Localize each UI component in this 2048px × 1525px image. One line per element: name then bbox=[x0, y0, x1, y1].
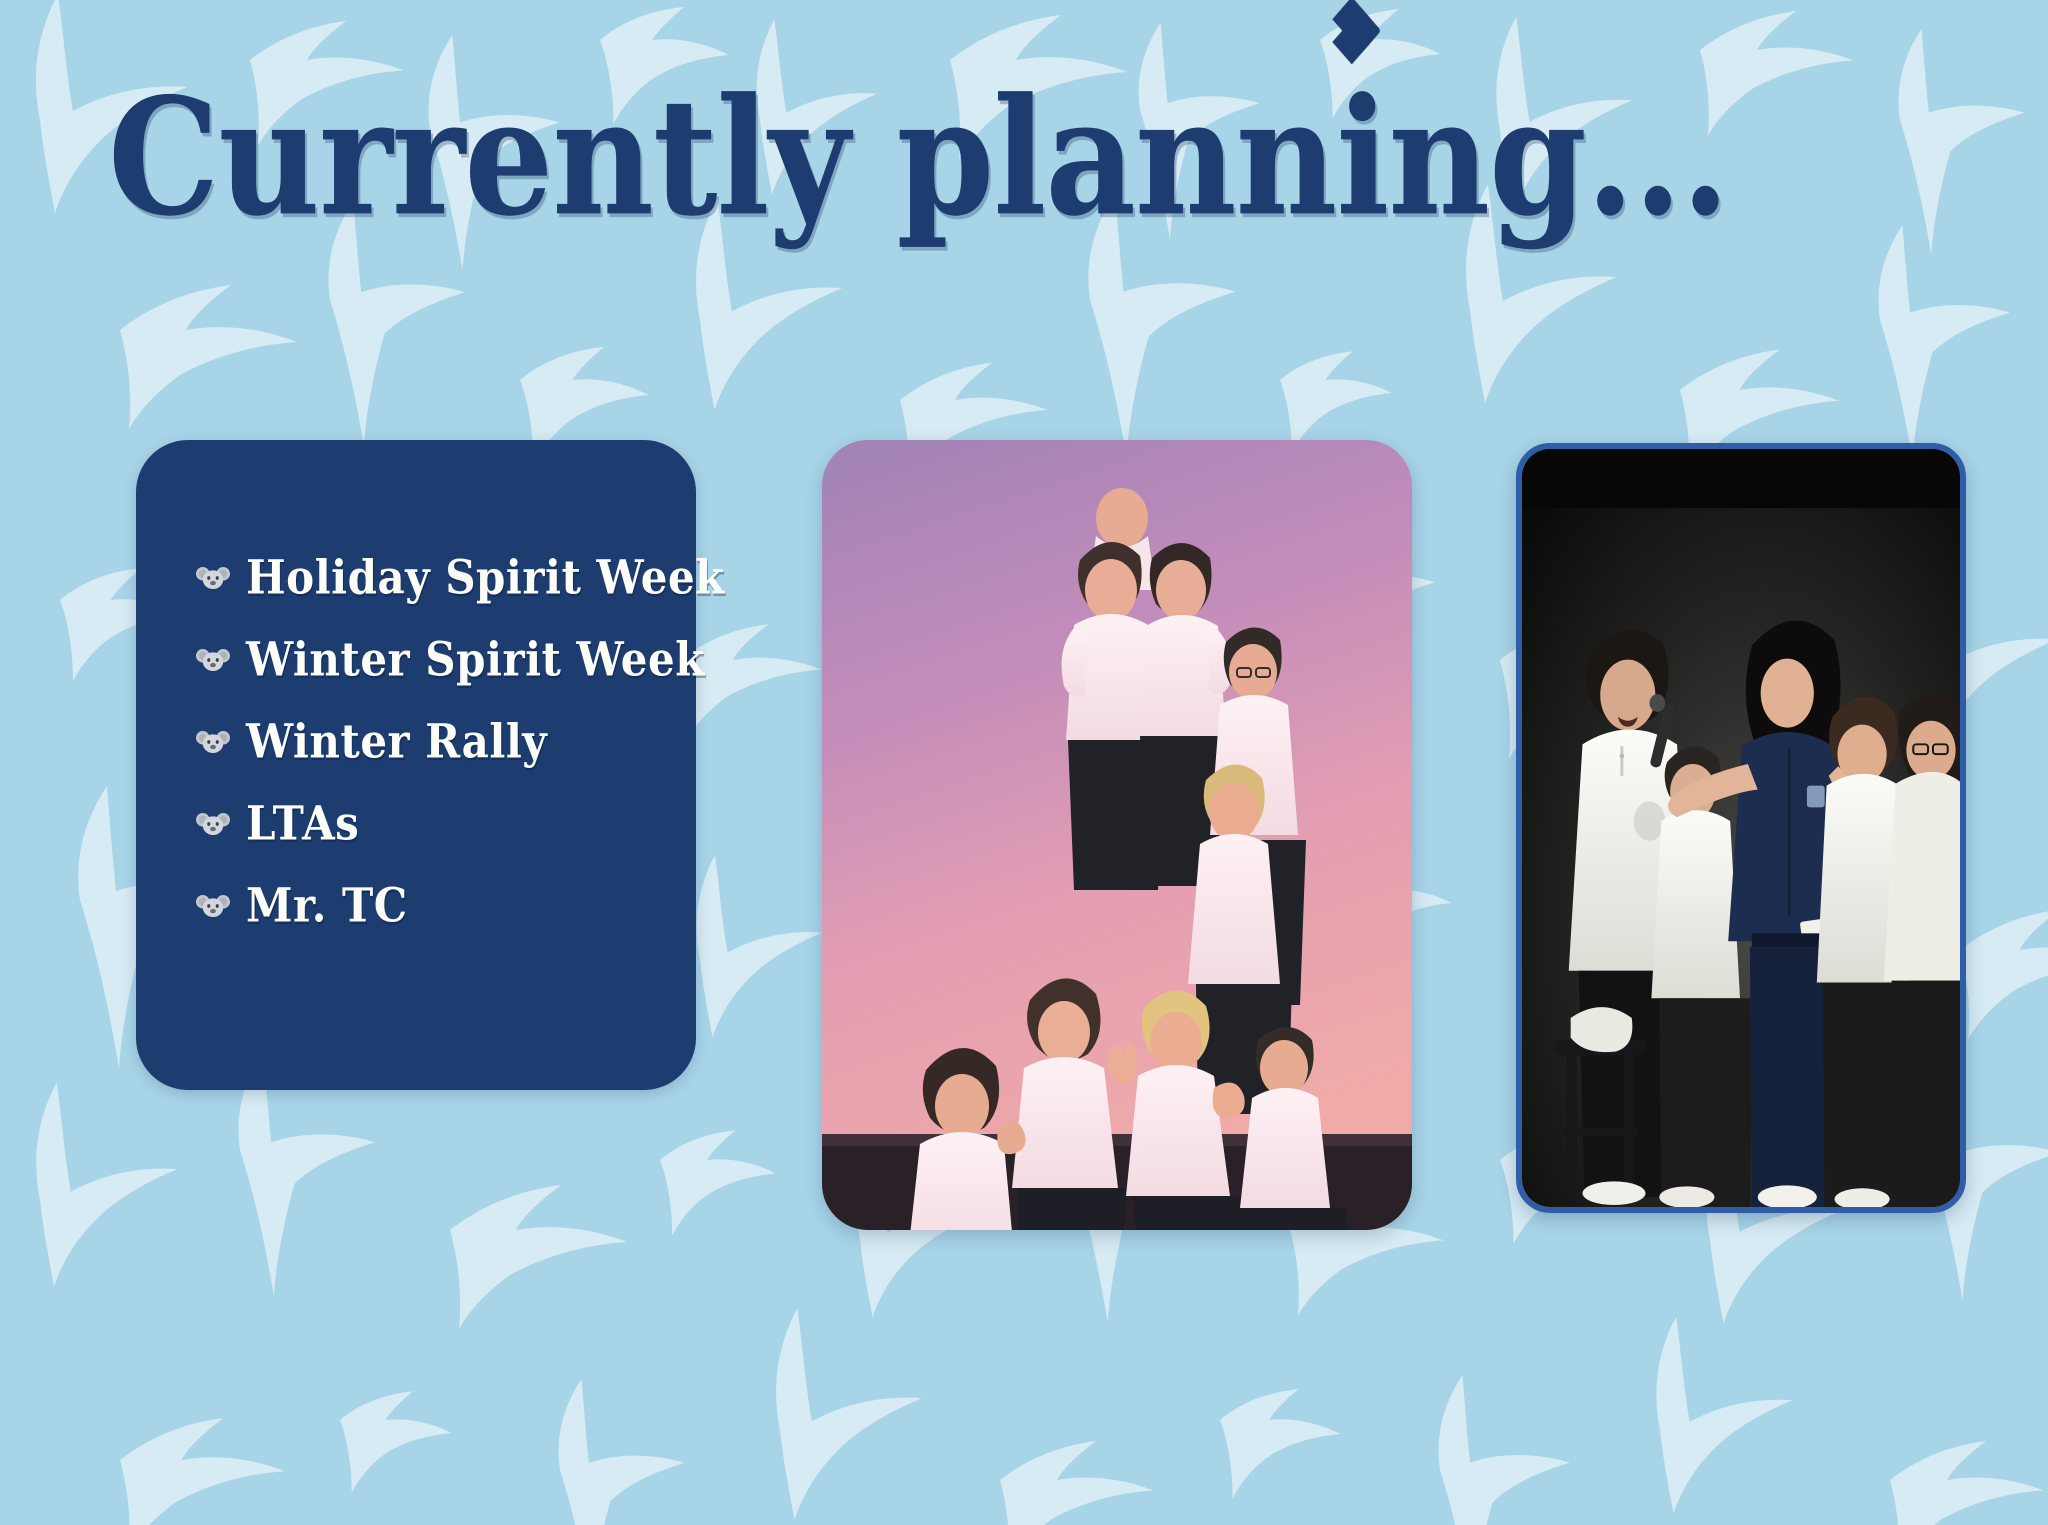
koala-icon bbox=[196, 725, 230, 759]
group-photo-pink-backdrop bbox=[822, 440, 1412, 1230]
stage-performance-photo bbox=[1516, 443, 1966, 1213]
list-item[interactable]: LTAs bbox=[196, 796, 696, 852]
page-title: Currently planning... bbox=[108, 78, 1486, 239]
heart-dot-i-icon: i bbox=[1336, 63, 1388, 252]
slide-canvas: Currently planning... Holiday Spirit Wee… bbox=[0, 0, 2048, 1525]
koala-icon bbox=[196, 561, 230, 595]
list-item[interactable]: Mr. TC bbox=[196, 878, 696, 934]
page-title-prefix: Currently plann bbox=[108, 63, 1336, 252]
list-item[interactable]: Holiday Spirit Week bbox=[196, 550, 696, 606]
list-item-label: Holiday Spirit Week bbox=[246, 554, 725, 601]
koala-icon bbox=[196, 807, 230, 841]
list-item-label: Winter Spirit Week bbox=[246, 636, 705, 683]
list-item-label: Mr. TC bbox=[246, 882, 408, 929]
koala-icon bbox=[196, 643, 230, 677]
list-item[interactable]: Winter Spirit Week bbox=[196, 632, 696, 688]
list-item-label: Winter Rally bbox=[246, 718, 547, 765]
list-item-label: LTAs bbox=[246, 800, 359, 847]
planning-list-card: Holiday Spirit Week Winter Spirit Week bbox=[136, 440, 696, 1090]
koala-icon bbox=[196, 889, 230, 923]
page-title-suffix: ng... bbox=[1388, 63, 1728, 252]
list-item[interactable]: Winter Rally bbox=[196, 714, 696, 770]
